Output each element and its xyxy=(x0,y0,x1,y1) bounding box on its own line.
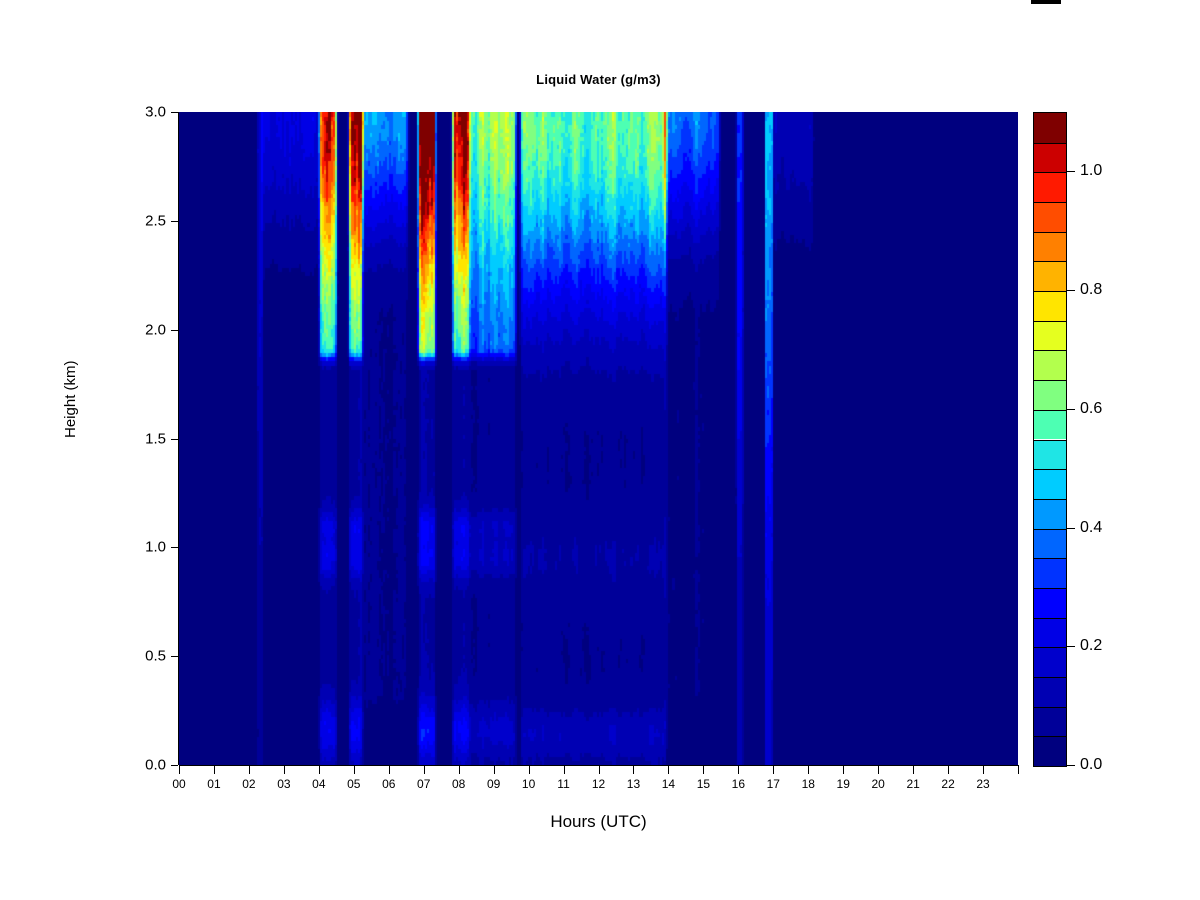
x-tick-label: 01 xyxy=(207,777,220,791)
x-tick xyxy=(808,766,809,774)
colorbar-tick xyxy=(1067,290,1075,291)
y-tick xyxy=(171,439,178,440)
x-tick xyxy=(773,766,774,774)
x-tick-label: 04 xyxy=(312,777,325,791)
y-tick-label: 2.0 xyxy=(145,321,166,338)
y-tick-label: 1.0 xyxy=(145,539,166,556)
colorbar-tick-label: 0.0 xyxy=(1080,756,1102,774)
y-axis-title: Height (km) xyxy=(62,360,79,438)
y-tick-label: 3.0 xyxy=(145,104,166,121)
y-tick-label: 1.5 xyxy=(145,430,166,447)
colorbar-tick xyxy=(1067,409,1075,410)
x-axis-title: Hours (UTC) xyxy=(179,812,1018,832)
y-tick xyxy=(171,330,178,331)
colorbar-segment xyxy=(1034,113,1066,143)
colorbar-segment xyxy=(1034,736,1066,766)
x-tick-label: 00 xyxy=(172,777,185,791)
x-tick-label: 12 xyxy=(592,777,605,791)
x-tick-label: 16 xyxy=(732,777,745,791)
x-tick xyxy=(494,766,495,774)
colorbar-tick-label: 0.2 xyxy=(1080,637,1102,655)
y-axis-line xyxy=(178,112,179,765)
y-tick xyxy=(171,656,178,657)
x-tick-label: 06 xyxy=(382,777,395,791)
x-tick xyxy=(633,766,634,774)
colorbar-segment xyxy=(1034,707,1066,737)
x-tick-label: 02 xyxy=(242,777,255,791)
x-tick-label: 23 xyxy=(976,777,989,791)
y-tick xyxy=(171,112,178,113)
x-tick xyxy=(948,766,949,774)
colorbar-segment xyxy=(1034,499,1066,529)
x-tick-label: 05 xyxy=(347,777,360,791)
x-tick-label: 15 xyxy=(697,777,710,791)
x-tick xyxy=(703,766,704,774)
y-tick xyxy=(171,221,178,222)
x-tick-label: 14 xyxy=(662,777,675,791)
colorbar-tick xyxy=(1067,646,1075,647)
colorbar-segment xyxy=(1034,618,1066,648)
x-tick-label: 08 xyxy=(452,777,465,791)
x-tick xyxy=(179,766,180,774)
colorbar-segment xyxy=(1034,529,1066,559)
colorbar-tick xyxy=(1067,765,1075,766)
colorbar-segment xyxy=(1034,588,1066,618)
x-tick xyxy=(983,766,984,774)
colorbar-tick-label: 1.0 xyxy=(1080,162,1102,180)
heatmap-plot-area[interactable] xyxy=(179,112,1018,765)
x-tick-label: 09 xyxy=(487,777,500,791)
y-tick xyxy=(171,547,178,548)
x-tick-label: 10 xyxy=(522,777,535,791)
x-tick xyxy=(668,766,669,774)
x-tick-label: 13 xyxy=(627,777,640,791)
x-tick xyxy=(284,766,285,774)
colorbar-segment xyxy=(1034,469,1066,499)
x-tick xyxy=(843,766,844,774)
liquid-water-figure: Liquid Water (g/m3) 0.00.51.01.52.02.53.… xyxy=(0,0,1200,900)
x-tick xyxy=(913,766,914,774)
colorbar-segment xyxy=(1034,647,1066,677)
heatmap-canvas[interactable] xyxy=(179,112,1018,765)
colorbar-segment xyxy=(1034,440,1066,470)
colorbar-segment xyxy=(1034,202,1066,232)
y-tick-label: 0.0 xyxy=(145,757,166,774)
y-tick xyxy=(171,765,178,766)
x-tick-label: 17 xyxy=(767,777,780,791)
colorbar-tick-label: 0.6 xyxy=(1080,400,1102,418)
y-tick-label: 0.5 xyxy=(145,648,166,665)
x-tick-label: 22 xyxy=(941,777,954,791)
colorbar-tick xyxy=(1067,171,1075,172)
x-tick-label: 11 xyxy=(557,777,569,791)
x-tick xyxy=(354,766,355,774)
x-tick xyxy=(389,766,390,774)
colorbar-segment xyxy=(1034,172,1066,202)
x-tick xyxy=(599,766,600,774)
x-tick xyxy=(1018,766,1019,774)
colorbar-segment xyxy=(1034,350,1066,380)
colorbar-segment xyxy=(1034,558,1066,588)
x-tick-label: 20 xyxy=(871,777,884,791)
x-tick-label: 21 xyxy=(906,777,919,791)
x-tick xyxy=(564,766,565,774)
top-artifact-bar xyxy=(1031,0,1061,4)
colorbar[interactable] xyxy=(1033,112,1067,767)
colorbar-tick-label: 0.8 xyxy=(1080,281,1102,299)
colorbar-segment xyxy=(1034,380,1066,410)
x-tick xyxy=(214,766,215,774)
colorbar-segment xyxy=(1034,143,1066,173)
x-tick-label: 18 xyxy=(802,777,815,791)
colorbar-tick-label: 0.4 xyxy=(1080,519,1102,537)
x-tick xyxy=(459,766,460,774)
colorbar-segment xyxy=(1034,261,1066,291)
x-tick-label: 03 xyxy=(277,777,290,791)
colorbar-segment xyxy=(1034,410,1066,440)
colorbar-segment xyxy=(1034,321,1066,351)
colorbar-segment xyxy=(1034,232,1066,262)
y-axis: 0.00.51.01.52.02.53.0 Height (km) xyxy=(0,0,178,900)
x-tick xyxy=(319,766,320,774)
x-tick xyxy=(424,766,425,774)
x-tick xyxy=(878,766,879,774)
x-tick xyxy=(738,766,739,774)
x-tick-label: 19 xyxy=(837,777,850,791)
colorbar-segment xyxy=(1034,677,1066,707)
colorbar-tick xyxy=(1067,528,1075,529)
x-tick xyxy=(249,766,250,774)
colorbar-segment xyxy=(1034,291,1066,321)
y-tick-label: 2.5 xyxy=(145,212,166,229)
x-tick xyxy=(529,766,530,774)
x-tick-label: 07 xyxy=(417,777,430,791)
page-title: Liquid Water (g/m3) xyxy=(179,72,1018,87)
